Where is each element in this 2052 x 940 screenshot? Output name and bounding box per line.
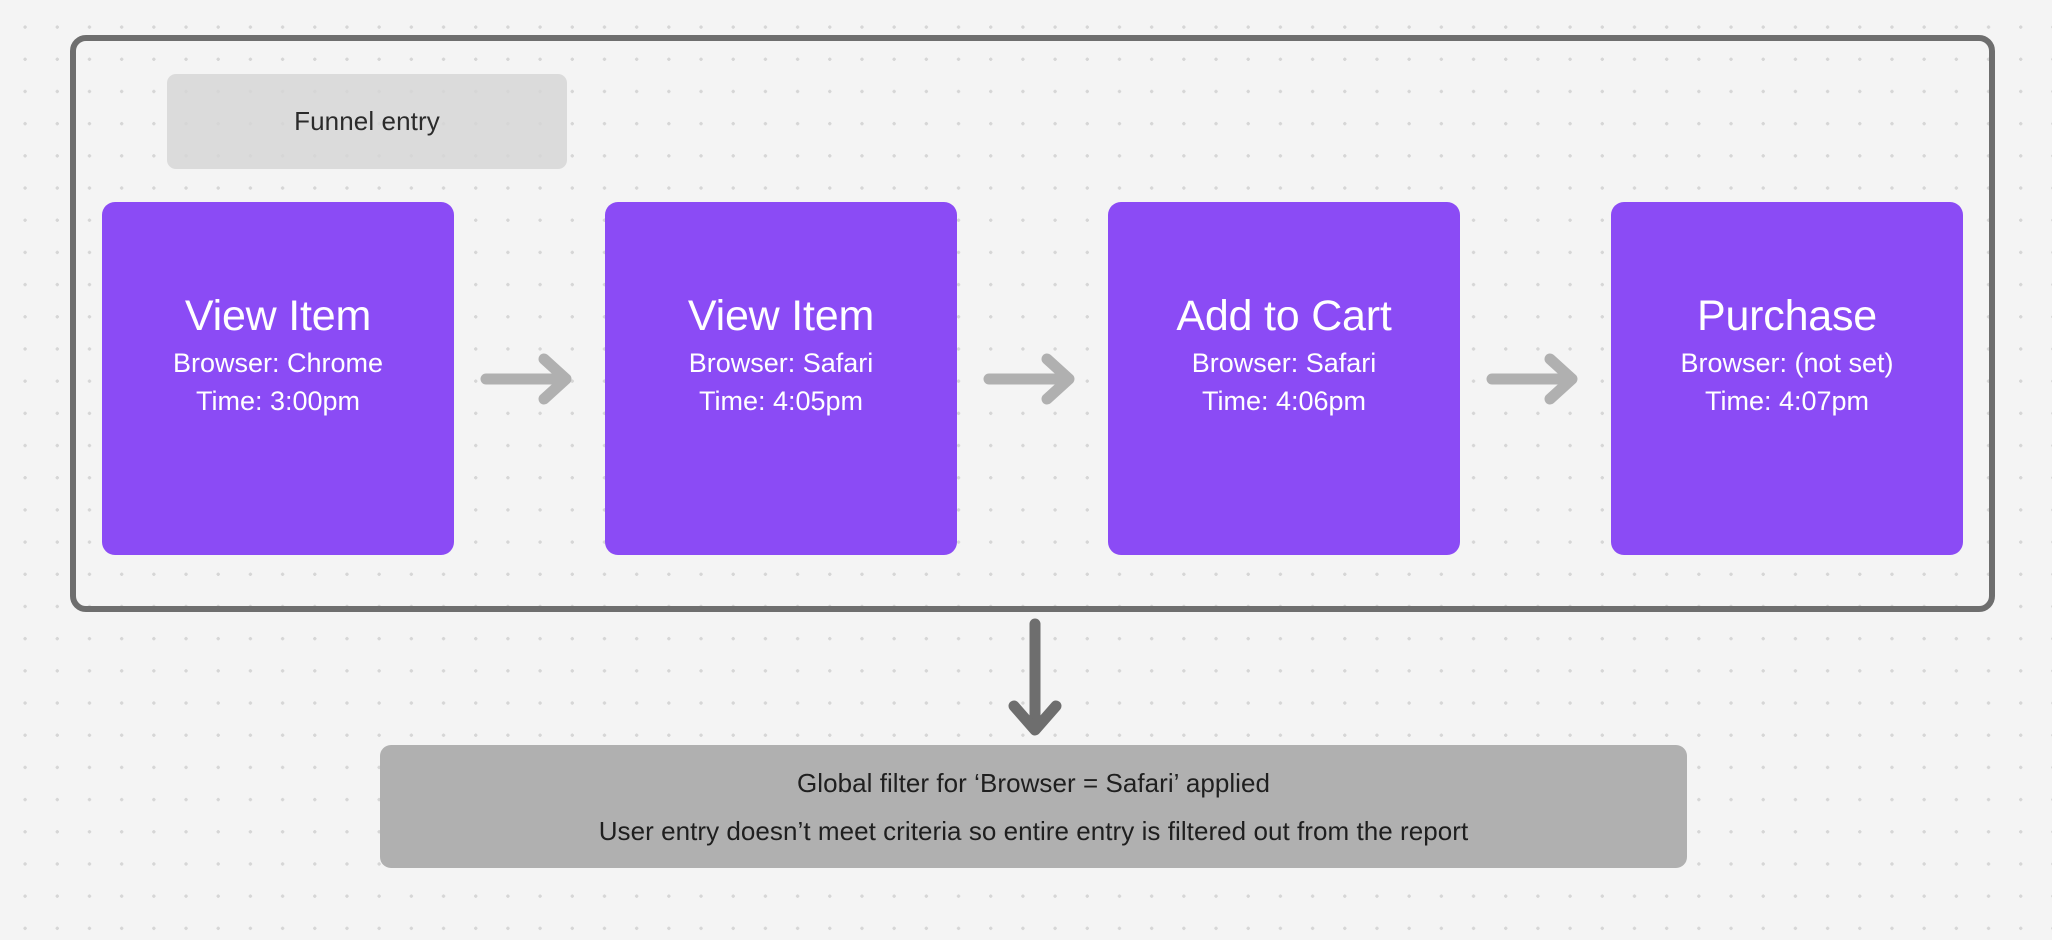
step-connector-3 — [1460, 349, 1611, 409]
global-filter-note: Global filter for ‘Browser = Safari’ app… — [380, 745, 1687, 868]
step-title-2: View Item — [688, 292, 874, 340]
step-time-1: Time: 3:00pm — [196, 382, 360, 420]
funnel-step-card-2[interactable]: View Item Browser: Safari Time: 4:05pm — [605, 202, 957, 555]
funnel-step-card-3[interactable]: Add to Cart Browser: Safari Time: 4:06pm — [1108, 202, 1460, 555]
step-time-4: Time: 4:07pm — [1705, 382, 1869, 420]
filter-connector — [1007, 618, 1063, 738]
funnel-entry-chip-label: Funnel entry — [294, 106, 440, 137]
step-connector-1 — [454, 349, 605, 409]
arrow-right-icon-2 — [987, 350, 1079, 408]
funnel-step-card-1[interactable]: View Item Browser: Chrome Time: 3:00pm — [102, 202, 454, 555]
funnel-entry-chip: Funnel entry — [167, 74, 567, 169]
step-title-1: View Item — [185, 292, 371, 340]
step-connector-2 — [957, 349, 1108, 409]
step-time-2: Time: 4:05pm — [699, 382, 863, 420]
step-title-3: Add to Cart — [1176, 292, 1391, 340]
arrow-down-icon — [1007, 618, 1063, 738]
arrow-right-icon-1 — [484, 350, 576, 408]
funnel-step-card-4[interactable]: Purchase Browser: (not set) Time: 4:07pm — [1611, 202, 1963, 555]
step-time-3: Time: 4:06pm — [1202, 382, 1366, 420]
step-browser-4: Browser: (not set) — [1680, 344, 1893, 382]
step-title-4: Purchase — [1697, 292, 1877, 340]
step-browser-1: Browser: Chrome — [173, 344, 383, 382]
filter-note-line-2: User entry doesn’t meet criteria so enti… — [599, 818, 1469, 844]
funnel-entry-container: Funnel entry View Item Browser: Chrome T… — [70, 35, 1995, 612]
step-browser-2: Browser: Safari — [689, 344, 874, 382]
arrow-right-icon-3 — [1490, 350, 1582, 408]
step-browser-3: Browser: Safari — [1192, 344, 1377, 382]
funnel-steps-row: View Item Browser: Chrome Time: 3:00pm V… — [76, 202, 1989, 555]
filter-note-line-1: Global filter for ‘Browser = Safari’ app… — [797, 770, 1270, 796]
